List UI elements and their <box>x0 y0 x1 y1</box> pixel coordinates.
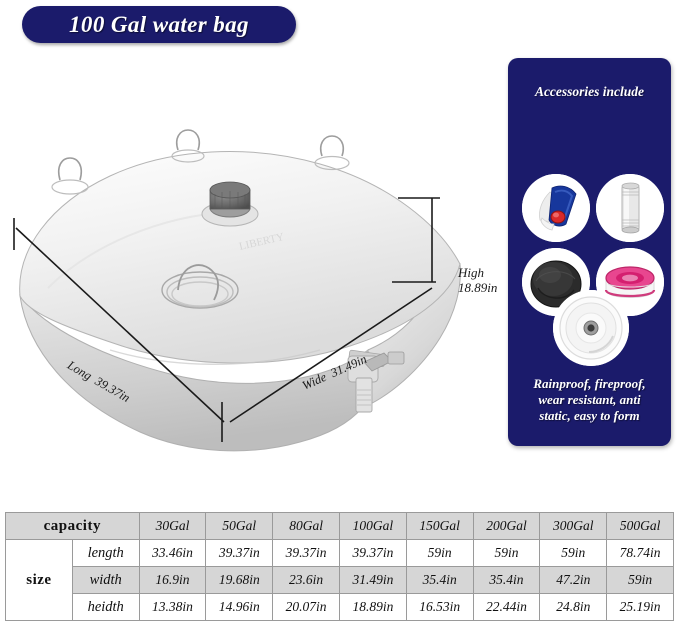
capacity-col-0: 30Gal <box>139 513 206 540</box>
cell-width-1: 19.68in <box>206 567 273 594</box>
cell-width-4: 35.4in <box>406 567 473 594</box>
row-label-length: length <box>72 540 139 567</box>
capacity-col-6: 300Gal <box>540 513 607 540</box>
row-label-heidth: heidth <box>72 594 139 621</box>
feature-text-block: Rainproof, fireproof, wear resistant, an… <box>514 376 665 424</box>
cell-heidth-0: 13.38in <box>139 594 206 621</box>
cell-length-5: 59in <box>473 540 540 567</box>
cell-heidth-4: 16.53in <box>406 594 473 621</box>
cell-length-1: 39.37in <box>206 540 273 567</box>
capacity-col-7: 500Gal <box>607 513 674 540</box>
capacity-col-3: 100Gal <box>339 513 406 540</box>
cell-length-4: 59in <box>406 540 473 567</box>
blue-ball-valve-icon <box>522 174 590 242</box>
accessories-panel: Accessories include <box>508 58 671 446</box>
cell-heidth-3: 18.89in <box>339 594 406 621</box>
table-header-row: capacity 30Gal 50Gal 80Gal 100Gal 150Gal… <box>6 513 674 540</box>
clear-tube-filter-icon <box>596 174 664 242</box>
table-row: width 16.9in 19.68in 23.6in 31.49in 35.4… <box>6 567 674 594</box>
dimension-label-high-name: High <box>458 265 497 280</box>
cell-heidth-1: 14.96in <box>206 594 273 621</box>
capacity-col-2: 80Gal <box>273 513 340 540</box>
cell-heidth-2: 20.07in <box>273 594 340 621</box>
page-title: 100 Gal water bag <box>22 12 296 38</box>
product-illustration: LIBERTY <box>0 50 500 500</box>
capacity-col-5: 200Gal <box>473 513 540 540</box>
cell-length-0: 33.46in <box>139 540 206 567</box>
accessory-ball-valve <box>522 174 590 242</box>
capacity-col-1: 50Gal <box>206 513 273 540</box>
capacity-col-4: 150Gal <box>406 513 473 540</box>
row-label-width: width <box>72 567 139 594</box>
cell-width-5: 35.4in <box>473 567 540 594</box>
dimension-label-high-value: 18.89in <box>458 280 497 295</box>
cell-heidth-5: 22.44in <box>473 594 540 621</box>
cell-heidth-7: 25.19in <box>607 594 674 621</box>
product-title-badge: 100 Gal water bag <box>22 6 296 43</box>
feature-line-3: static, easy to form <box>514 408 665 424</box>
table-row: size length 33.46in 39.37in 39.37in 39.3… <box>6 540 674 567</box>
cell-width-6: 47.2in <box>540 567 607 594</box>
cell-length-2: 39.37in <box>273 540 340 567</box>
size-header: size <box>6 540 73 621</box>
accessory-white-cap <box>553 290 629 366</box>
table-row: heidth 13.38in 14.96in 20.07in 18.89in 1… <box>6 594 674 621</box>
feature-line-1: Rainproof, fireproof, <box>514 376 665 392</box>
white-round-cap-icon <box>553 290 629 366</box>
capacity-header: capacity <box>6 513 140 540</box>
cell-width-0: 16.9in <box>139 567 206 594</box>
cell-length-7: 78.74in <box>607 540 674 567</box>
screw-cap-port <box>202 182 258 226</box>
cell-heidth-6: 24.8in <box>540 594 607 621</box>
water-bag-drawing: LIBERTY <box>0 50 500 500</box>
cell-length-6: 59in <box>540 540 607 567</box>
cell-width-3: 31.49in <box>339 567 406 594</box>
cell-width-7: 59in <box>607 567 674 594</box>
cell-length-3: 39.37in <box>339 540 406 567</box>
dimension-label-high: High 18.89in <box>458 265 497 295</box>
specification-table: capacity 30Gal 50Gal 80Gal 100Gal 150Gal… <box>5 512 674 621</box>
cell-width-2: 23.6in <box>273 567 340 594</box>
accessory-filter-tube <box>596 174 664 242</box>
feature-line-2: wear resistant, anti <box>514 392 665 408</box>
accessories-heading: Accessories include <box>508 84 671 100</box>
